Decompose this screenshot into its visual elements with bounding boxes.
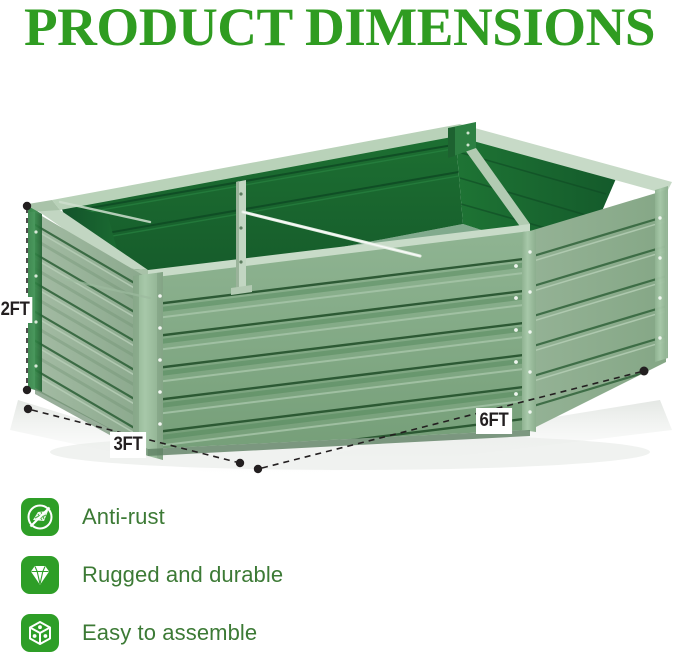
feature-list: Anti-rust Rugged and durable xyxy=(0,488,420,662)
height-dimension-label: 2FT xyxy=(0,297,32,323)
length-dimension-label: 6FT xyxy=(476,408,512,434)
feature-item-assemble: Easy to assemble xyxy=(0,604,420,662)
front-right-corner-post xyxy=(522,230,536,432)
cube-icon xyxy=(21,614,59,652)
product-illustration xyxy=(0,100,679,480)
width-dimension-label: 3FT xyxy=(110,432,146,458)
diamond-icon xyxy=(21,556,59,594)
feature-item-anti-rust: Anti-rust xyxy=(0,488,420,546)
anti-rust-icon xyxy=(21,498,59,536)
feature-label: Easy to assemble xyxy=(82,620,257,646)
feature-label: Rugged and durable xyxy=(82,562,283,588)
infographic-canvas: PRODUCT DIMENSIONS xyxy=(0,0,679,665)
feature-item-rugged: Rugged and durable xyxy=(0,546,420,604)
page-title: PRODUCT DIMENSIONS xyxy=(0,0,679,56)
feature-label: Anti-rust xyxy=(82,504,165,530)
